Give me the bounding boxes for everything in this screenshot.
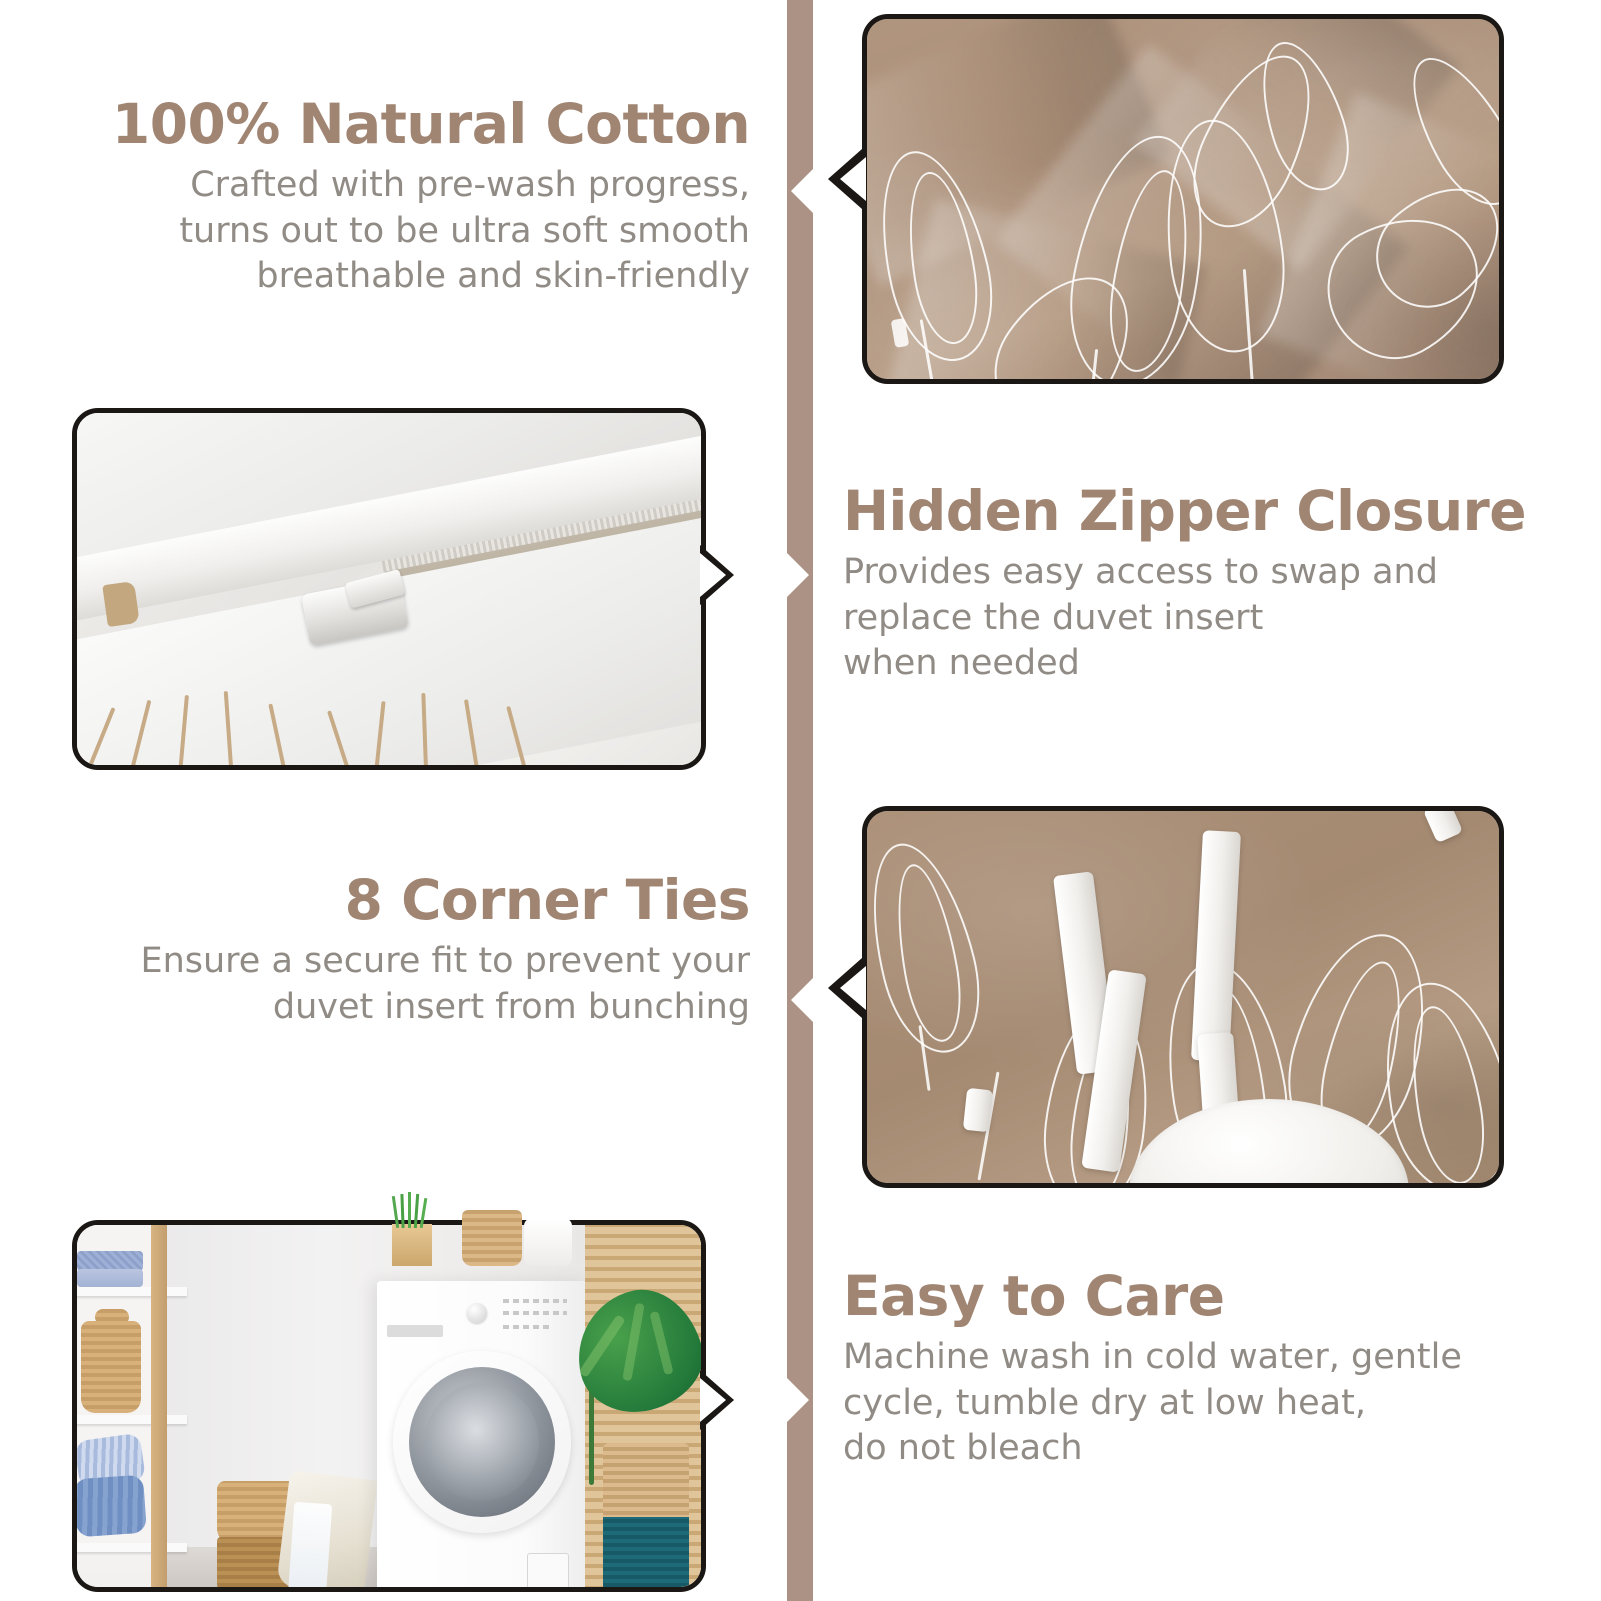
folded-towel bbox=[77, 1251, 143, 1271]
center-divider-bar bbox=[787, 0, 813, 1601]
blue-pillow bbox=[77, 1475, 147, 1538]
feature-body-line: Crafted with pre-wash progress, bbox=[80, 163, 750, 209]
laundry-room-photo bbox=[72, 1220, 706, 1592]
corner-ties-photo-pointer-fill bbox=[840, 966, 866, 1010]
feature-heading-natural-cotton: 100% Natural Cotton bbox=[80, 96, 750, 153]
divider-notch-1 bbox=[791, 169, 813, 213]
draped-white-towel bbox=[288, 1502, 333, 1587]
grass-blade bbox=[408, 1192, 411, 1228]
feature-body-line: duvet insert from bunching bbox=[110, 985, 750, 1031]
feature-heading-corner-ties: 8 Corner Ties bbox=[110, 872, 750, 929]
divider-notch-2 bbox=[787, 553, 809, 597]
feature-body-line: when needed bbox=[843, 641, 1543, 687]
feature-body-line: breathable and skin-friendly bbox=[80, 254, 750, 300]
washer-control-marks bbox=[503, 1299, 567, 1303]
divider-notch-4 bbox=[787, 1378, 809, 1422]
feature-block-easy-care: Easy to Care Machine wash in cold water,… bbox=[843, 1268, 1543, 1472]
feature-body-line: Ensure a secure fit to prevent your bbox=[110, 939, 750, 985]
grass-blade bbox=[400, 1194, 404, 1228]
washer-detergent-drawer bbox=[387, 1325, 443, 1337]
wicker-basket-overflow bbox=[462, 1210, 522, 1266]
white-towel-overflow bbox=[524, 1218, 572, 1266]
grass-blade bbox=[414, 1194, 419, 1228]
zipper-photo-canvas bbox=[77, 413, 701, 765]
feature-block-corner-ties: 8 Corner Ties Ensure a secure fit to pre… bbox=[110, 872, 750, 1030]
vase-upper-wicker bbox=[603, 1443, 689, 1519]
feature-body-line: Machine wash in cold water, gentle bbox=[843, 1335, 1543, 1381]
folded-towel bbox=[77, 1269, 143, 1287]
washer-control-marks bbox=[503, 1325, 553, 1329]
shelf-board bbox=[77, 1415, 187, 1424]
fabric-closeup-photo bbox=[862, 14, 1504, 384]
washer-dial bbox=[467, 1303, 487, 1323]
zipper-photo-pointer-fill bbox=[700, 553, 726, 597]
feature-body-hidden-zipper: Provides easy access to swap and replace… bbox=[843, 550, 1543, 687]
corner-ties-photo-canvas bbox=[867, 811, 1499, 1183]
washer-control-marks bbox=[503, 1311, 567, 1315]
fabric-photo-canvas bbox=[867, 19, 1499, 379]
washer-drum bbox=[425, 1383, 539, 1501]
feature-body-natural-cotton: Crafted with pre-wash progress, turns ou… bbox=[80, 163, 750, 300]
feature-body-line: turns out to be ultra soft smooth bbox=[80, 209, 750, 255]
feature-body-line: cycle, tumble dry at low heat, bbox=[843, 1381, 1543, 1427]
divider-notch-3 bbox=[791, 978, 813, 1022]
feature-heading-easy-care: Easy to Care bbox=[843, 1268, 1543, 1325]
feature-body-line: replace the duvet insert bbox=[843, 596, 1543, 642]
fabric-photo-pointer-fill bbox=[840, 157, 866, 201]
feature-block-hidden-zipper: Hidden Zipper Closure Provides easy acce… bbox=[843, 483, 1543, 687]
wicker-basket bbox=[81, 1321, 141, 1413]
feature-body-line: do not bleach bbox=[843, 1426, 1543, 1472]
washer-filter-hatch bbox=[527, 1553, 569, 1587]
washing-machine bbox=[377, 1281, 589, 1587]
feature-body-easy-care: Machine wash in cold water, gentle cycle… bbox=[843, 1335, 1543, 1472]
potted-grass-overflow bbox=[380, 1196, 442, 1266]
vase-lower-teal bbox=[603, 1517, 689, 1587]
infographic-page: 100% Natural Cotton Crafted with pre-was… bbox=[0, 0, 1601, 1601]
basket-handle bbox=[95, 1309, 129, 1325]
grass-pot bbox=[392, 1224, 432, 1266]
feature-body-corner-ties: Ensure a secure fit to prevent your duve… bbox=[110, 939, 750, 1030]
feature-body-line: Provides easy access to swap and bbox=[843, 550, 1543, 596]
laundry-photo-pointer-fill bbox=[700, 1378, 726, 1422]
zipper-closeup-photo bbox=[72, 408, 706, 770]
zipper-tan-clip bbox=[102, 581, 140, 627]
shelf-board bbox=[77, 1543, 187, 1552]
wooden-ladder-rail bbox=[151, 1225, 167, 1587]
laundry-room-canvas bbox=[77, 1225, 701, 1587]
corner-ties-photo bbox=[862, 806, 1504, 1188]
feature-heading-hidden-zipper: Hidden Zipper Closure bbox=[843, 483, 1543, 540]
shelf-board bbox=[77, 1287, 187, 1296]
feature-block-natural-cotton: 100% Natural Cotton Crafted with pre-was… bbox=[80, 96, 750, 300]
corner-tie-ribbon-small bbox=[963, 1088, 993, 1132]
